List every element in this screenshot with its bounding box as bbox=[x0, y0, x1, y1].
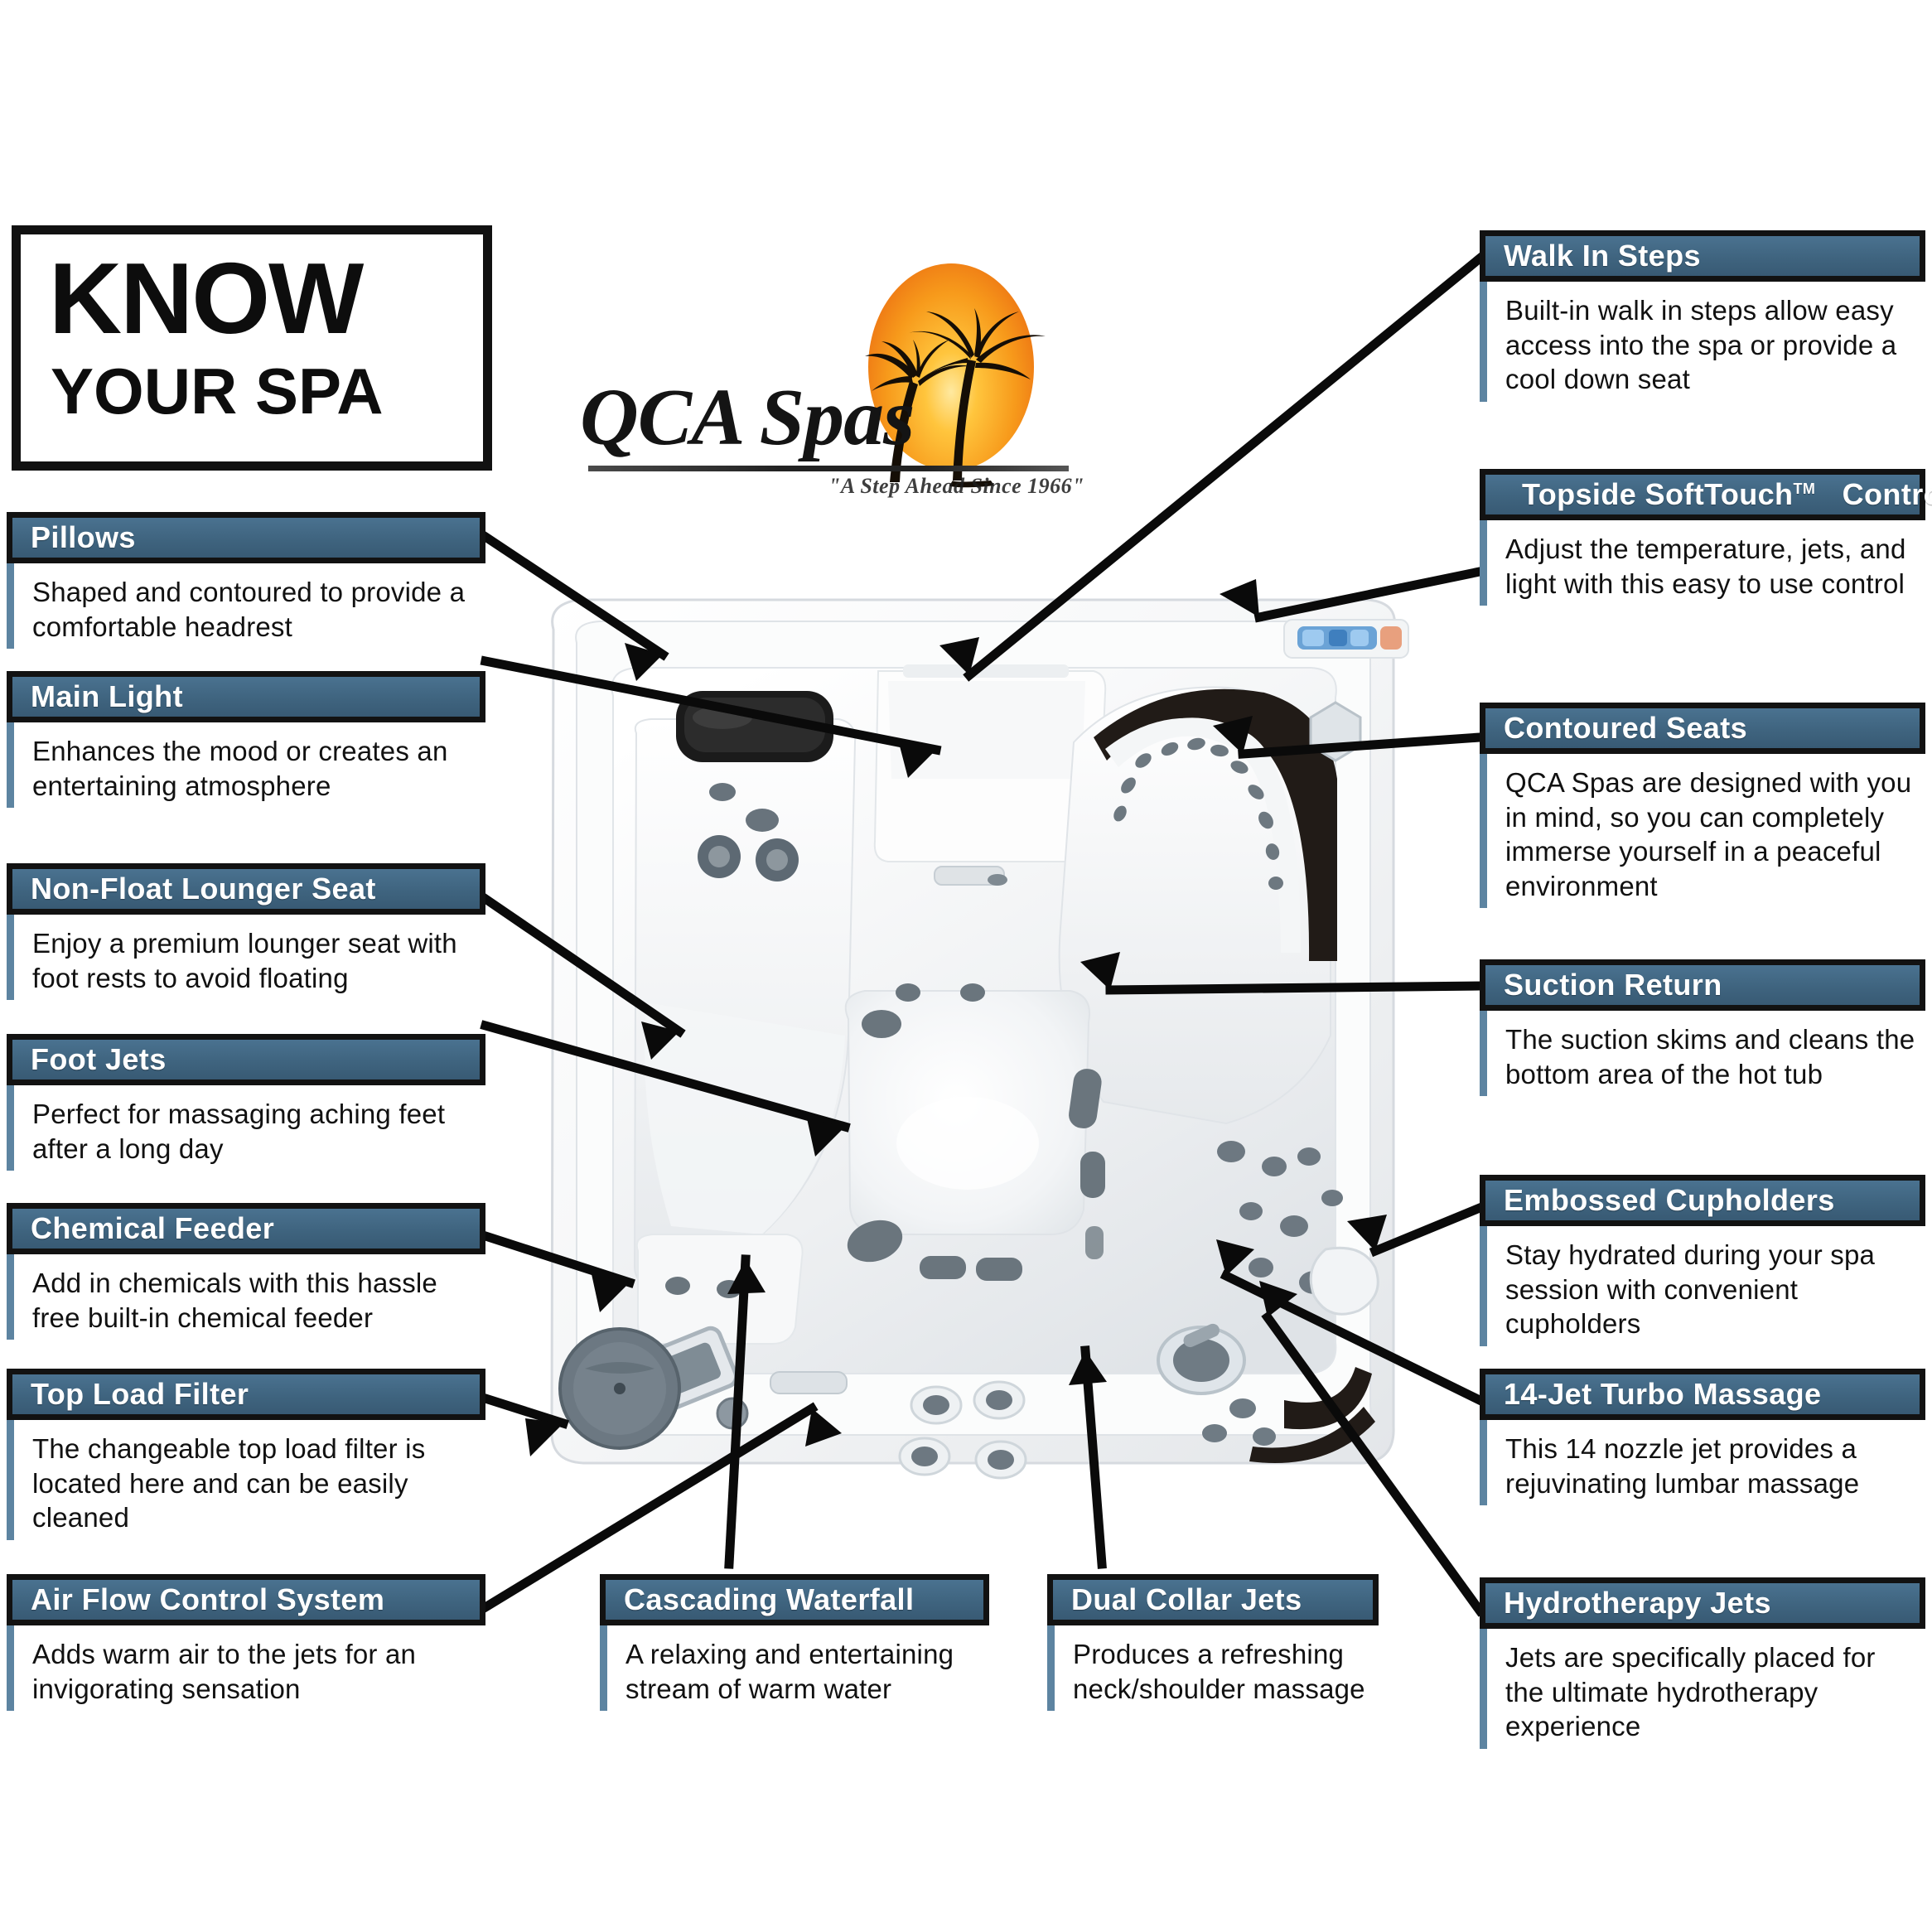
feature-desc: QCA Spas are designed with you in mind, … bbox=[1505, 766, 1917, 903]
feature-title: Chemical Feeder bbox=[12, 1211, 274, 1246]
feature-header[interactable]: Main Light bbox=[7, 671, 485, 722]
feature-title: Pillows bbox=[12, 520, 136, 555]
feature-title-pre: Topside SoftTouch bbox=[1504, 477, 1793, 511]
feature-desc: Produces a refreshing neck/shoulder mass… bbox=[1073, 1637, 1370, 1706]
feature-desc: Built-in walk in steps allow easy access… bbox=[1505, 293, 1917, 397]
feature-header[interactable]: Contoured Seats bbox=[1480, 703, 1925, 754]
feature-topside-softtouch-control: Topside SoftTouchTM Control Adjust the t… bbox=[1480, 469, 1925, 606]
feature-desc: Adjust the temperature, jets, and light … bbox=[1505, 532, 1917, 601]
feature-header[interactable]: 14-Jet Turbo Massage bbox=[1480, 1369, 1925, 1420]
feature-header[interactable]: Pillows bbox=[7, 512, 485, 563]
page-title: KNOW YOUR SPA bbox=[12, 225, 492, 471]
feature-pillows: Pillows Shaped and contoured to provide … bbox=[7, 512, 485, 649]
feature-hydrotherapy-jets: Hydrotherapy Jets Jets are specifically … bbox=[1480, 1577, 1925, 1749]
feature-body: Shaped and contoured to provide a comfor… bbox=[7, 563, 485, 649]
feature-title: Main Light bbox=[12, 679, 183, 714]
feature-title: Non-Float Lounger Seat bbox=[12, 872, 376, 906]
feature-title: Dual Collar Jets bbox=[1053, 1582, 1302, 1617]
feature-title: Contoured Seats bbox=[1485, 711, 1747, 746]
feature-dual-collar-jets: Dual Collar Jets Produces a refreshing n… bbox=[1047, 1574, 1379, 1711]
feature-header[interactable]: Walk In Steps bbox=[1480, 230, 1925, 282]
feature-header[interactable]: Embossed Cupholders bbox=[1480, 1175, 1925, 1226]
trademark-symbol: TM bbox=[1793, 481, 1815, 497]
feature-non-float-lounger-seat: Non-Float Lounger Seat Enjoy a premium l… bbox=[7, 863, 485, 1000]
feature-body: Jets are specifically placed for the ult… bbox=[1480, 1629, 1925, 1749]
feature-title: Suction Return bbox=[1485, 968, 1722, 1002]
feature-title: Cascading Waterfall bbox=[606, 1582, 914, 1617]
feature-title: Hydrotherapy Jets bbox=[1485, 1586, 1771, 1620]
feature-cascading-waterfall: Cascading Waterfall A relaxing and enter… bbox=[600, 1574, 989, 1711]
feature-title: Top Load Filter bbox=[12, 1377, 249, 1412]
feature-header[interactable]: Cascading Waterfall bbox=[600, 1574, 989, 1625]
feature-body: Built-in walk in steps allow easy access… bbox=[1480, 282, 1925, 402]
feature-desc: Shaped and contoured to provide a comfor… bbox=[32, 575, 477, 644]
feature-chemical-feeder: Chemical Feeder Add in chemicals with th… bbox=[7, 1203, 485, 1340]
feature-header[interactable]: Air Flow Control System bbox=[7, 1574, 485, 1625]
feature-walk-in-steps: Walk In Steps Built-in walk in steps all… bbox=[1480, 230, 1925, 402]
feature-header[interactable]: Top Load Filter bbox=[7, 1369, 485, 1420]
feature-suction-return: Suction Return The suction skims and cle… bbox=[1480, 959, 1925, 1096]
qca-spas-logo: QCA Spas "A Step Ahead Since 1966" bbox=[580, 249, 1110, 522]
feature-body: Enjoy a premium lounger seat with foot r… bbox=[7, 915, 485, 1000]
feature-embossed-cupholders: Embossed Cupholders Stay hydrated during… bbox=[1480, 1175, 1925, 1346]
feature-body: QCA Spas are designed with you in mind, … bbox=[1480, 754, 1925, 908]
spa-photo bbox=[514, 572, 1442, 1500]
logo-tagline: "A Step Ahead Since 1966" bbox=[828, 474, 1102, 499]
feature-top-load-filter: Top Load Filter The changeable top load … bbox=[7, 1369, 485, 1540]
feature-header[interactable]: Foot Jets bbox=[7, 1034, 485, 1085]
feature-desc: Adds warm air to the jets for an invigor… bbox=[32, 1637, 477, 1706]
feature-header[interactable]: Hydrotherapy Jets bbox=[1480, 1577, 1925, 1629]
feature-header[interactable]: Non-Float Lounger Seat bbox=[7, 863, 485, 915]
title-line-your-spa: YOUR SPA bbox=[51, 359, 481, 423]
feature-title: Air Flow Control System bbox=[12, 1582, 384, 1617]
feature-body: Add in chemicals with this hassle free b… bbox=[7, 1254, 485, 1340]
feature-body: Adjust the temperature, jets, and light … bbox=[1480, 520, 1925, 606]
feature-main-light: Main Light Enhances the mood or creates … bbox=[7, 671, 485, 808]
feature-body: Adds warm air to the jets for an invigor… bbox=[7, 1625, 485, 1711]
feature-body: Stay hydrated during your spa session wi… bbox=[1480, 1226, 1925, 1346]
feature-title: 14-Jet Turbo Massage bbox=[1485, 1377, 1821, 1412]
feature-body: This 14 nozzle jet provides a rejuvinati… bbox=[1480, 1420, 1925, 1505]
feature-desc: The changeable top load filter is locate… bbox=[32, 1432, 477, 1535]
feature-air-flow-control-system: Air Flow Control System Adds warm air to… bbox=[7, 1574, 485, 1711]
feature-header[interactable]: Chemical Feeder bbox=[7, 1203, 485, 1254]
feature-header[interactable]: Suction Return bbox=[1480, 959, 1925, 1011]
infographic-canvas: KNOW YOUR SPA bbox=[0, 0, 1932, 1932]
feature-14-jet-turbo-massage: 14-Jet Turbo Massage This 14 nozzle jet … bbox=[1480, 1369, 1925, 1505]
feature-title: Embossed Cupholders bbox=[1485, 1183, 1835, 1218]
feature-contoured-seats: Contoured Seats QCA Spas are designed wi… bbox=[1480, 703, 1925, 908]
feature-title: Foot Jets bbox=[12, 1042, 167, 1077]
feature-body: The suction skims and cleans the bottom … bbox=[1480, 1011, 1925, 1096]
feature-desc: Enhances the mood or creates an entertai… bbox=[32, 734, 477, 803]
feature-desc: Enjoy a premium lounger seat with foot r… bbox=[32, 926, 477, 995]
feature-body: Produces a refreshing neck/shoulder mass… bbox=[1047, 1625, 1379, 1711]
feature-desc: Add in chemicals with this hassle free b… bbox=[32, 1266, 477, 1335]
feature-body: A relaxing and entertaining stream of wa… bbox=[600, 1625, 989, 1711]
feature-desc: Jets are specifically placed for the ult… bbox=[1505, 1640, 1917, 1744]
feature-desc: The suction skims and cleans the bottom … bbox=[1505, 1022, 1917, 1091]
feature-desc: A relaxing and entertaining stream of wa… bbox=[625, 1637, 981, 1706]
feature-desc: This 14 nozzle jet provides a rejuvinati… bbox=[1505, 1432, 1917, 1500]
title-line-know: KNOW bbox=[49, 248, 480, 349]
feature-body: The changeable top load filter is locate… bbox=[7, 1420, 485, 1540]
feature-foot-jets: Foot Jets Perfect for massaging aching f… bbox=[7, 1034, 485, 1171]
feature-header[interactable]: Topside SoftTouchTM Control bbox=[1480, 469, 1925, 520]
logo-brand-text: QCA Spas bbox=[580, 371, 1011, 464]
feature-desc: Perfect for massaging aching feet after … bbox=[32, 1097, 477, 1166]
feature-title: Topside SoftTouchTM Control bbox=[1485, 477, 1932, 512]
feature-title: Walk In Steps bbox=[1485, 239, 1701, 273]
spa-illustration bbox=[514, 572, 1442, 1500]
feature-desc: Stay hydrated during your spa session wi… bbox=[1505, 1238, 1917, 1341]
feature-header[interactable]: Dual Collar Jets bbox=[1047, 1574, 1379, 1625]
logo-underline bbox=[588, 466, 1069, 471]
feature-title-post: Control bbox=[1815, 477, 1932, 511]
feature-body: Perfect for massaging aching feet after … bbox=[7, 1085, 485, 1171]
feature-body: Enhances the mood or creates an entertai… bbox=[7, 722, 485, 808]
